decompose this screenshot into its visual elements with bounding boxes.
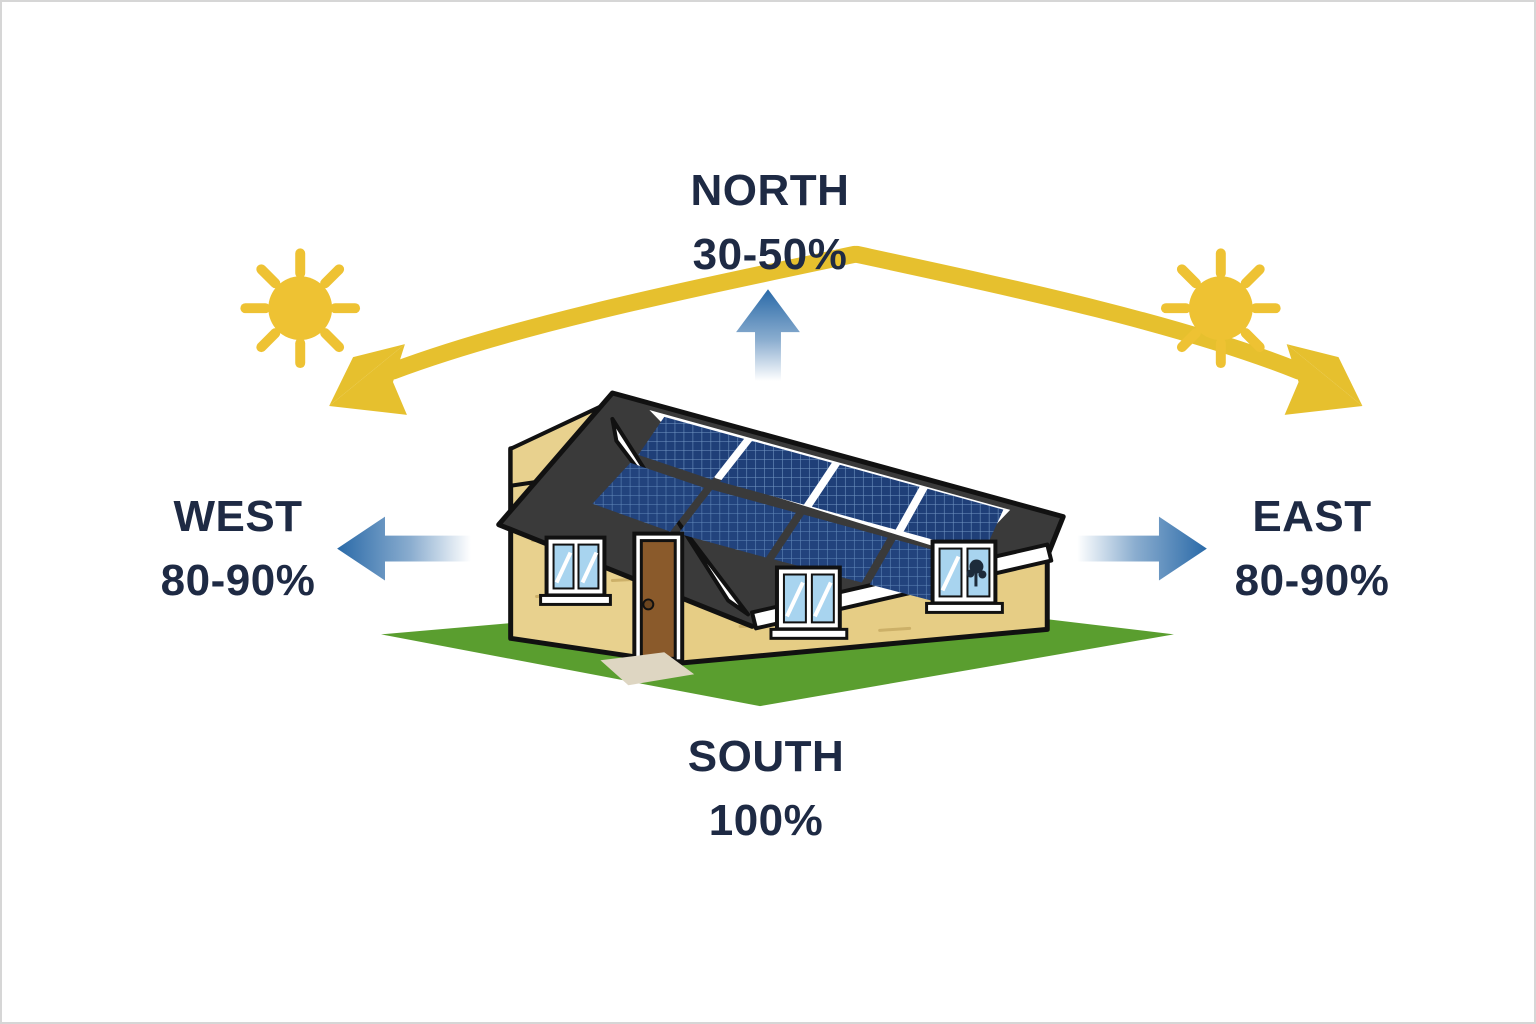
front-window xyxy=(541,538,611,605)
direction-label-east: EAST 80-90% xyxy=(1162,490,1462,607)
direction-label-south: SOUTH 100% xyxy=(566,730,966,847)
side-window-1 xyxy=(771,568,847,639)
sun-icon-left xyxy=(245,253,355,363)
side-window-2 xyxy=(927,542,1003,613)
direction-name-north: NORTH xyxy=(570,164,970,218)
direction-value-north: 30-50% xyxy=(570,228,970,282)
front-door[interactable] xyxy=(634,534,682,662)
direction-value-east: 80-90% xyxy=(1162,554,1462,608)
direction-name-east: EAST xyxy=(1162,490,1462,544)
direction-label-west: WEST 80-90% xyxy=(98,490,378,607)
direction-name-south: SOUTH xyxy=(566,730,966,784)
house-with-solar-panels-icon xyxy=(381,393,1174,706)
diagram-canvas: NORTH 30-50% EAST 80-90% SOUTH 100% WEST… xyxy=(0,0,1536,1024)
arrow-up-icon-north[interactable] xyxy=(736,289,800,381)
direction-label-north: NORTH 30-50% xyxy=(570,164,970,281)
direction-name-west: WEST xyxy=(98,490,378,544)
direction-value-west: 80-90% xyxy=(98,554,378,608)
door-knob[interactable] xyxy=(643,599,653,609)
direction-value-south: 100% xyxy=(566,794,966,848)
sun-icon-right xyxy=(1166,253,1276,363)
